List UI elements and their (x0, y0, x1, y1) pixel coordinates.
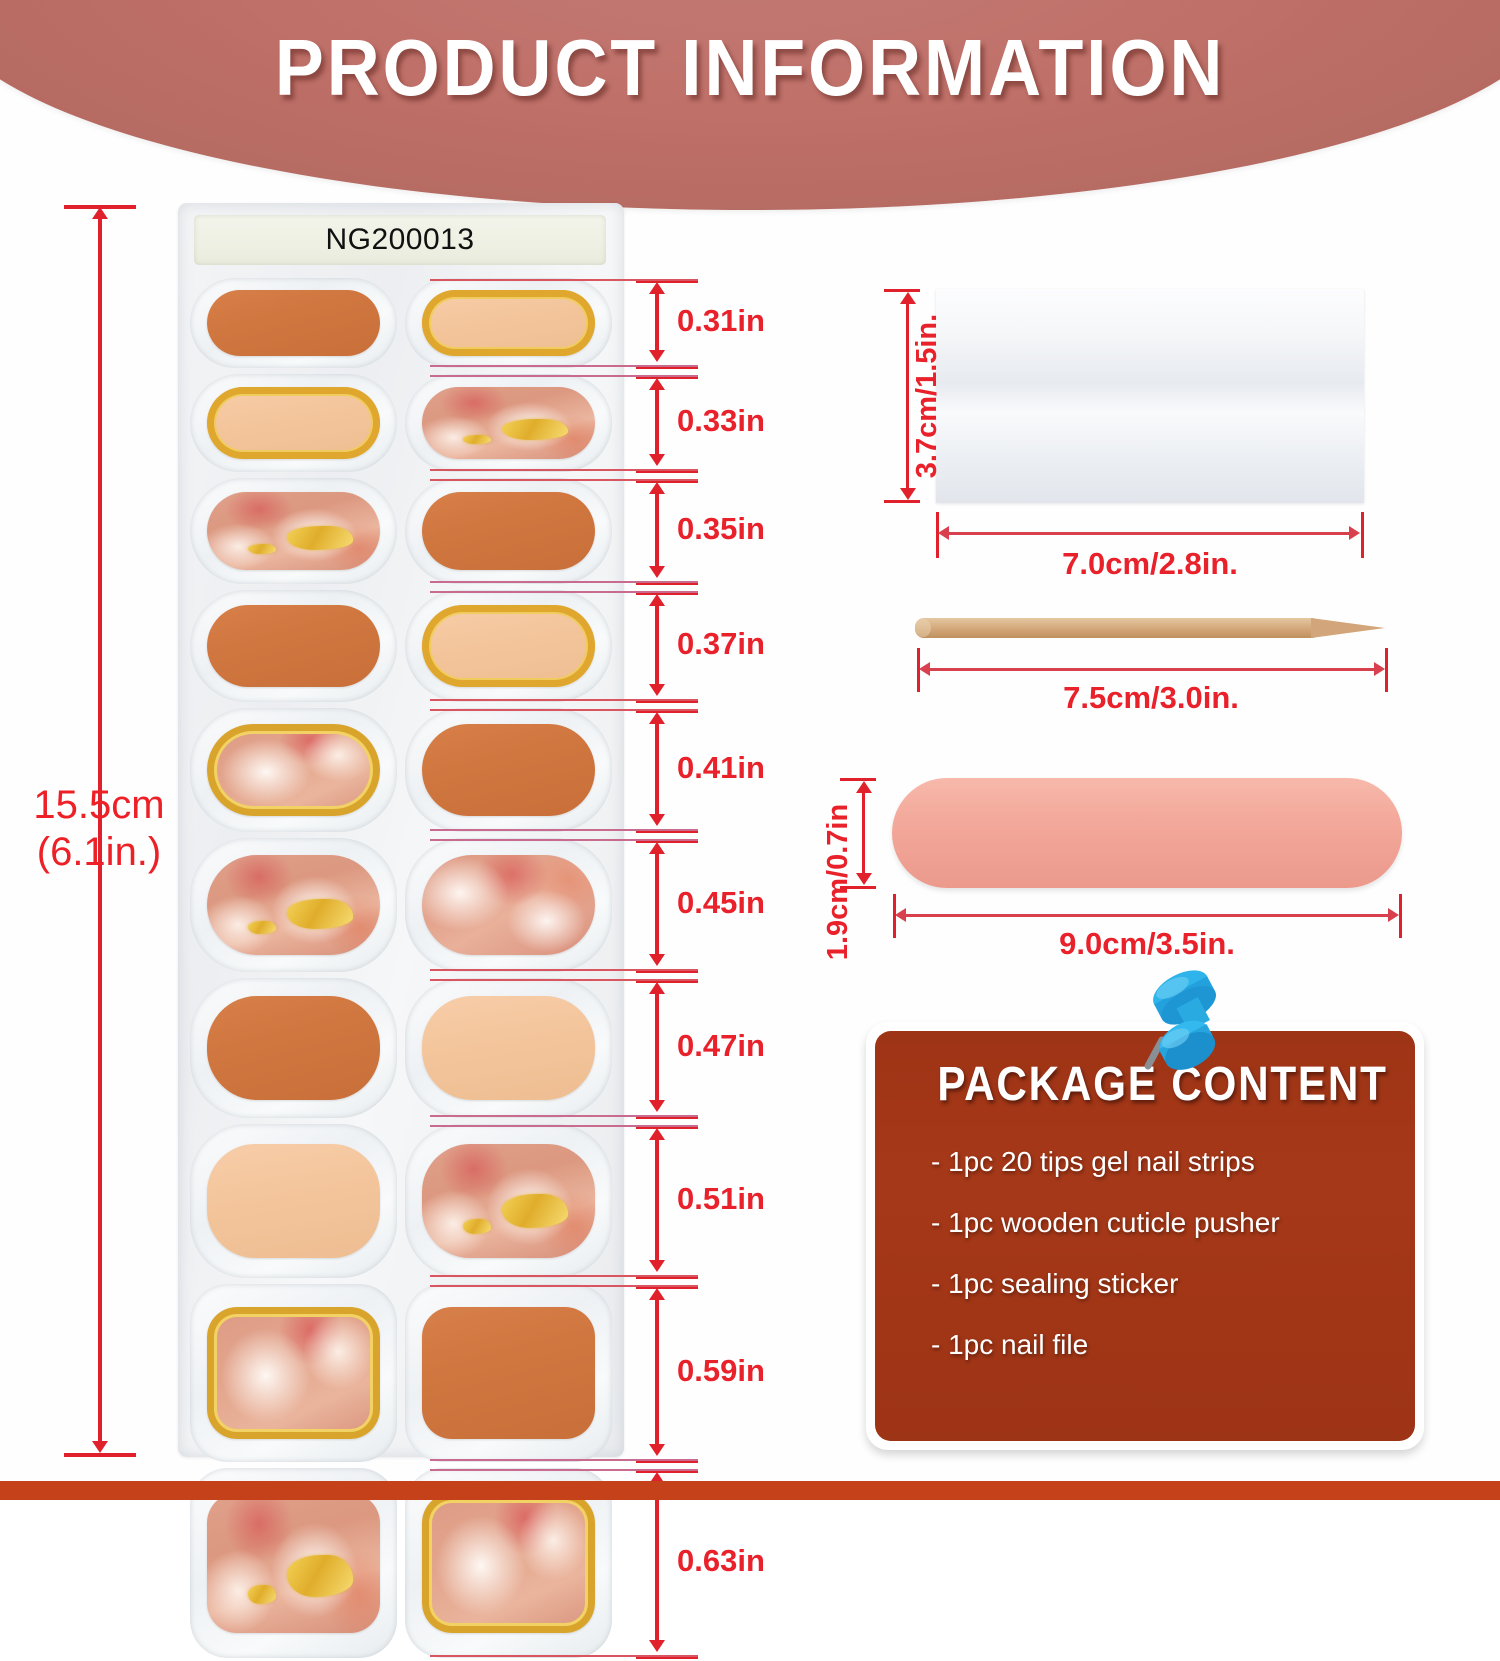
strip-dim-arrow (655, 1299, 659, 1445)
strip-leader-line (430, 279, 698, 281)
strip-dim-arrow (655, 493, 659, 567)
nail-strip-row (178, 975, 624, 1121)
strip-width-label: 0.35in (677, 511, 765, 547)
gold-foil-accent (248, 1585, 276, 1603)
nail-strip-peach-gold-border (207, 387, 381, 460)
nail-strip-solid-orange (207, 996, 381, 1100)
nail-strip-marble-gold-flake (422, 387, 596, 460)
package-content-item: - 1pc 20 tips gel nail strips (931, 1146, 1381, 1178)
nail-strip-grid (178, 275, 624, 1661)
sheet-height-label-in: (6.1in.) (0, 829, 198, 876)
strip-dim-arrow (655, 853, 659, 955)
pusher-flat-end (915, 619, 931, 637)
gold-foil-accent (463, 435, 491, 444)
file-width-label: 9.0cm/3.5in. (892, 926, 1402, 962)
pushpin-icon (1122, 968, 1252, 1078)
gold-foil-accent (248, 921, 276, 934)
strip-dim-arrow (655, 723, 659, 815)
nail-strip-marble-gold-border (207, 724, 381, 816)
package-content-item: - 1pc wooden cuticle pusher (931, 1207, 1381, 1239)
nail-strip-cell[interactable] (190, 978, 397, 1118)
nail-strip-cell[interactable] (405, 374, 612, 472)
nail-strip-marble-gold-flake (422, 1144, 596, 1258)
strip-dim-arrow (655, 1483, 659, 1641)
gold-foil-accent (287, 1555, 353, 1597)
file-width-arrow (905, 914, 1389, 917)
strip-width-label: 0.47in (677, 1028, 765, 1064)
strip-dim-arrow (655, 389, 659, 455)
nail-strip-marble-gold-flake (207, 855, 381, 954)
nail-strip-row (178, 371, 624, 475)
strip-leader-line (430, 365, 698, 367)
nail-strip-peach-gold-border (422, 290, 596, 357)
strip-leader-line (430, 479, 698, 481)
strip-leader-line (430, 1285, 698, 1287)
sticker-width-label: 7.0cm/2.8in. (936, 546, 1364, 582)
strip-leader-line (430, 1655, 698, 1657)
strip-leader-line (430, 1275, 698, 1277)
nail-strip-marble-gold-flake (207, 492, 381, 570)
strip-leader-line (430, 375, 698, 377)
strip-leader-line (430, 1459, 698, 1461)
strip-dim-arrow (655, 605, 659, 685)
nail-strip-cell[interactable] (405, 838, 612, 972)
nail-strip-cell[interactable] (405, 590, 612, 702)
package-content-inner: PACKAGE CONTENT - 1pc 20 tips gel nail s… (875, 1031, 1415, 1441)
nail-strip-peach-gold-border (422, 605, 596, 688)
strip-leader-line (430, 829, 698, 831)
strip-dim-arrow (655, 293, 659, 351)
strip-leader-line (430, 1115, 698, 1117)
nail-strip-solid-orange (422, 724, 596, 816)
strip-leader-line (430, 591, 698, 593)
strip-dim-arrow (655, 1139, 659, 1261)
nail-strip-cell[interactable] (190, 374, 397, 472)
sheet-height-label-cm: 15.5cm (0, 782, 198, 829)
bottom-accent-bar (0, 1481, 1500, 1500)
strip-width-label: 0.63in (677, 1543, 765, 1579)
sheet-height-label: 15.5cm (6.1in.) (0, 782, 198, 876)
nail-strip-row (178, 1121, 624, 1281)
nail-strip-cell[interactable] (190, 838, 397, 972)
nail-strip-peach (422, 996, 596, 1100)
pusher-body (915, 618, 1315, 638)
strip-width-label: 0.31in (677, 303, 765, 339)
sheet-code-text: NG200013 (325, 223, 474, 257)
strip-leader-line (430, 969, 698, 971)
nail-strip-row (178, 835, 624, 975)
package-content-list: - 1pc 20 tips gel nail strips- 1pc woode… (909, 1146, 1381, 1361)
gold-foil-accent (287, 899, 353, 929)
strip-leader-line (430, 1125, 698, 1127)
sheet-code-label: NG200013 (194, 215, 606, 265)
nail-strip-cell[interactable] (190, 278, 397, 368)
sticker-height-label: 3.7cm/1.5in. (820, 289, 1034, 503)
strip-dim-arrow (655, 993, 659, 1101)
pusher-length-arrow (929, 668, 1375, 671)
nail-strip-cell[interactable] (405, 478, 612, 584)
pusher-tip (1311, 618, 1385, 638)
sheet-height-tick-bottom (64, 1453, 136, 1457)
nail-strip-marble-gold-border (207, 1307, 381, 1439)
nail-strip-cell[interactable] (190, 590, 397, 702)
nail-strip-row (178, 587, 624, 705)
nail-strip-cell[interactable] (190, 1284, 397, 1462)
nail-strip-cell[interactable] (405, 978, 612, 1118)
strip-leader-line (430, 581, 698, 583)
nail-strip-marble-gold-flake (207, 1493, 381, 1634)
strip-leader-line (430, 839, 698, 841)
package-content-card: PACKAGE CONTENT - 1pc 20 tips gel nail s… (866, 1022, 1424, 1450)
nail-strip-cell[interactable] (405, 278, 612, 368)
nail-strip-cell[interactable] (405, 708, 612, 832)
strip-width-label: 0.51in (677, 1181, 765, 1217)
gold-foil-accent (248, 544, 276, 554)
strip-leader-line (430, 469, 698, 471)
nail-strip-row (178, 275, 624, 371)
strip-width-label: 0.33in (677, 403, 765, 439)
nail-strip-cell[interactable] (405, 1124, 612, 1278)
nail-strip-cell[interactable] (405, 1284, 612, 1462)
nail-strip-cell[interactable] (190, 478, 397, 584)
nail-strip-peach (207, 1144, 381, 1258)
gold-foil-accent (287, 526, 353, 550)
nail-strip-solid-orange (207, 290, 381, 357)
nail-strip-row (178, 705, 624, 835)
nail-strip-marble (422, 855, 596, 954)
gold-foil-accent (502, 1194, 568, 1228)
strip-leader-line (430, 699, 698, 701)
strip-leader-line (430, 979, 698, 981)
gold-foil-accent (502, 419, 568, 441)
strip-leader-line (430, 1469, 698, 1471)
page-title: PRODUCT INFORMATION (60, 22, 1440, 114)
nail-strip-row (178, 1281, 624, 1465)
nail-file (892, 778, 1402, 888)
sticker-width-arrow (948, 532, 1350, 535)
strip-width-label: 0.59in (677, 1353, 765, 1389)
nail-strip-solid-orange (207, 605, 381, 688)
nail-strip-solid-orange (422, 492, 596, 570)
nail-strip-row (178, 475, 624, 587)
nail-strip-solid-orange (422, 1307, 596, 1439)
nail-strip-cell[interactable] (190, 708, 397, 832)
wooden-cuticle-pusher (915, 612, 1385, 642)
nail-strip-cell[interactable] (190, 1124, 397, 1278)
gold-foil-accent (463, 1219, 491, 1234)
strip-leader-line (430, 709, 698, 711)
pusher-length-label: 7.5cm/3.0in. (915, 680, 1387, 716)
strip-width-label: 0.37in (677, 626, 765, 662)
package-content-item: - 1pc sealing sticker (931, 1268, 1381, 1300)
package-content-item: - 1pc nail file (931, 1329, 1381, 1361)
nail-strip-marble-gold-border (422, 1493, 596, 1634)
